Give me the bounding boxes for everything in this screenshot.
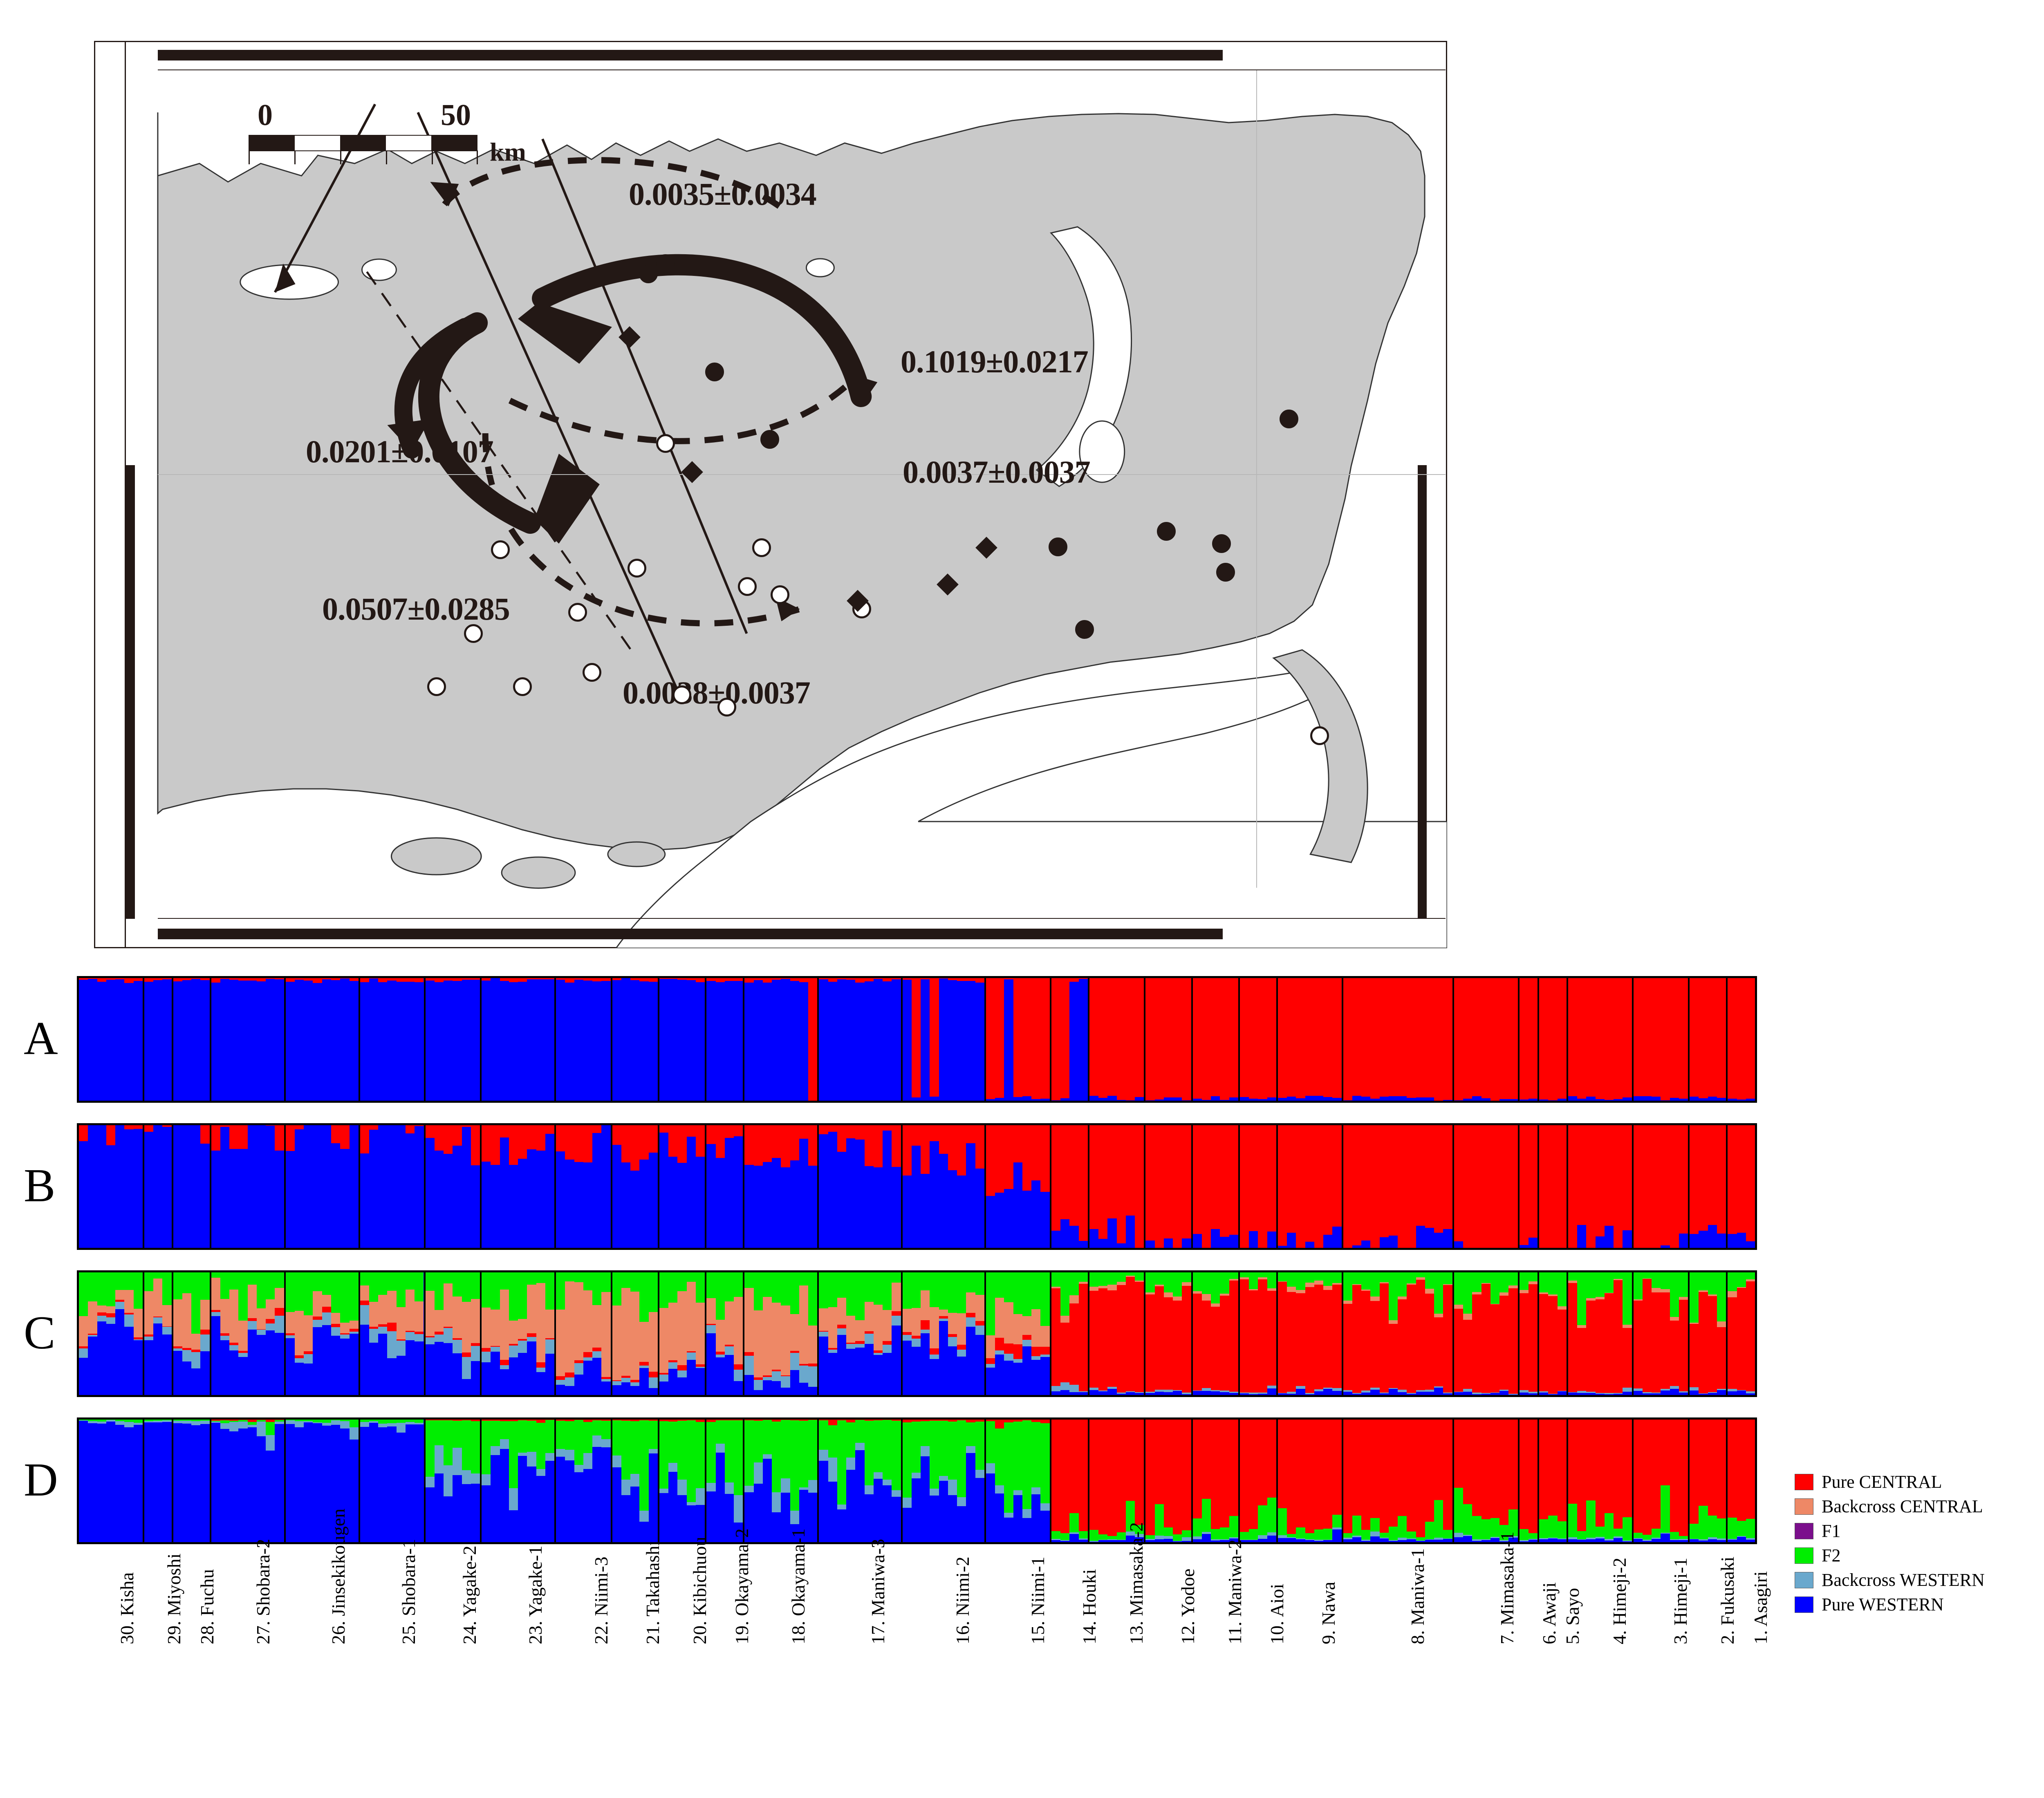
bar-segment-pure-western [500, 1369, 509, 1395]
bar-segment-pure-western [1380, 1097, 1389, 1101]
bar-segment-pure-central [1352, 1125, 1361, 1245]
individual-bar [819, 1420, 828, 1542]
bar-segment-backcross-central [1499, 1292, 1508, 1296]
bar-segment-pure-central [744, 1352, 753, 1355]
individual-bar [191, 1420, 200, 1542]
individual-bar [144, 978, 153, 1101]
bar-segment-pure-central [1126, 1420, 1135, 1501]
bar-segment-pure-central [734, 1125, 743, 1136]
bar-segment-pure-western [1370, 1536, 1379, 1542]
bar-segment-pure-central [97, 1312, 106, 1316]
individual-bar [1370, 1420, 1379, 1542]
bar-segment-pure-central [986, 1125, 995, 1196]
bar-segment-pure-western [1398, 1096, 1407, 1101]
bar-segment-pure-central [275, 1125, 284, 1151]
bar-segment-f2 [229, 1272, 238, 1290]
bar-segment-pure-central [1182, 978, 1191, 1100]
bar-segment-backcross-western [471, 1473, 480, 1484]
bar-segment-pure-central [1717, 1327, 1726, 1389]
bar-segment-pure-western [191, 1425, 200, 1542]
population-group [173, 1272, 211, 1395]
individual-bar [191, 1272, 200, 1395]
site-marker-central [1280, 410, 1298, 428]
bar-segment-backcross-western [266, 1435, 275, 1451]
bar-segment-pure-central [1717, 1420, 1726, 1518]
bar-segment-pure-western [574, 1162, 583, 1248]
population-group [482, 1125, 556, 1248]
individual-bar [574, 1420, 583, 1542]
population-label: 1. Asagiri [1750, 1571, 1771, 1644]
individual-bar [304, 1272, 313, 1395]
bar-segment-pure-central [912, 978, 921, 1097]
bar-segment-pure-western [668, 979, 677, 1101]
bar-segment-pure-western [1004, 979, 1013, 1101]
individual-bar [1004, 1272, 1013, 1395]
bar-segment-f2 [930, 1421, 939, 1489]
bar-segment-pure-central [435, 1125, 444, 1151]
population-label: 9. Nawa [1318, 1582, 1339, 1644]
individual-bar [790, 1420, 799, 1542]
bar-segment-pure-western [1040, 1099, 1049, 1101]
bar-segment-pure-central [1089, 978, 1098, 1096]
population-group [1454, 1272, 1520, 1395]
bar-segment-pure-western [1164, 1097, 1173, 1101]
individual-bar [1278, 1272, 1287, 1395]
bar-segment-pure-central [1398, 978, 1407, 1096]
bar-segment-f2 [948, 1272, 957, 1313]
individual-bar [883, 1420, 892, 1542]
bar-segment-pure-western [1596, 1394, 1605, 1395]
bar-segment-f2 [1708, 1272, 1717, 1294]
bar-segment-backcross-western [1013, 1359, 1022, 1363]
bar-segment-f2 [1343, 1272, 1352, 1301]
population-group [706, 978, 744, 1101]
individual-bar [630, 1125, 639, 1248]
bar-segment-backcross-central [734, 1297, 743, 1364]
individual-bar [500, 1125, 509, 1248]
bar-segment-f2 [360, 1272, 369, 1285]
bar-segment-pure-western [211, 1316, 220, 1395]
bar-segment-backcross-central [331, 1313, 340, 1324]
bar-segment-pure-central [930, 978, 939, 1097]
population-group [1240, 1125, 1278, 1248]
individual-bar [162, 978, 171, 1101]
bar-segment-pure-western [808, 1387, 817, 1395]
bar-segment-f2 [518, 1420, 527, 1453]
population-group [1634, 1420, 1690, 1542]
individual-bar [491, 1272, 500, 1395]
bar-segment-f2 [1370, 1272, 1379, 1296]
individual-bar [1717, 1125, 1726, 1248]
bar-segment-backcross-western [1296, 1386, 1305, 1389]
bar-segment-backcross-western [601, 1439, 610, 1447]
individual-bar [846, 1125, 855, 1248]
bar-segment-backcross-western [115, 1302, 124, 1309]
bar-segment-backcross-western [1004, 1354, 1013, 1361]
bar-segment-f2 [565, 1272, 574, 1281]
bar-segment-backcross-western [930, 1355, 939, 1359]
individual-bar [229, 1420, 238, 1542]
individual-bar [313, 1420, 322, 1542]
bar-segment-pure-western [406, 1340, 415, 1395]
individual-bar [144, 1272, 153, 1395]
individual-bar [865, 1420, 874, 1542]
bar-segment-pure-western [892, 1497, 901, 1542]
bar-segment-pure-western [545, 1354, 554, 1395]
individual-bar [257, 978, 266, 1101]
bar-segment-backcross-western [855, 1344, 864, 1347]
bar-segment-pure-western [350, 1334, 359, 1395]
legend-label: Backcross CENTRAL [1822, 1496, 1983, 1517]
bar-segment-pure-western [378, 1427, 387, 1542]
bar-segment-pure-western [828, 1353, 837, 1395]
site-marker-western [752, 538, 771, 557]
bar-segment-f2 [846, 1272, 855, 1315]
bar-segment-pure-western [1145, 1393, 1154, 1395]
bar-segment-pure-western [527, 979, 536, 1101]
bar-segment-pure-central [706, 1125, 715, 1144]
bar-segment-backcross-central [1060, 1316, 1069, 1323]
individual-bar [592, 978, 601, 1101]
individual-bar [1287, 1272, 1296, 1395]
individual-bar [1079, 1272, 1088, 1395]
bar-segment-pure-central [808, 978, 817, 1101]
bar-segment-pure-western [1249, 1394, 1258, 1395]
bar-segment-f2 [1287, 1272, 1296, 1287]
individual-bar [903, 1420, 912, 1542]
bar-segment-pure-western [687, 1360, 696, 1395]
individual-bar [734, 1125, 743, 1248]
bar-segment-pure-western [426, 981, 435, 1101]
population-group [556, 1272, 612, 1395]
bar-segment-backcross-central [995, 1298, 1004, 1338]
bar-segment-pure-western [855, 1348, 864, 1395]
individual-bar [134, 978, 143, 1101]
individual-bar [1737, 978, 1746, 1101]
individual-bar [1529, 1420, 1537, 1542]
bar-segment-pure-western [1126, 1392, 1135, 1395]
bar-segment-pure-western [846, 1138, 855, 1248]
bar-segment-pure-central [975, 978, 984, 982]
bar-segment-f2 [1079, 1531, 1088, 1539]
individual-bar [1434, 1420, 1443, 1542]
population-group [144, 1125, 173, 1248]
individual-bar [295, 1272, 304, 1395]
bar-segment-pure-western [182, 1125, 191, 1248]
bar-segment-pure-western [921, 1456, 930, 1542]
individual-bar [1004, 1420, 1013, 1542]
bar-segment-f2 [1089, 1530, 1098, 1541]
bar-segment-f2 [248, 1272, 257, 1285]
bar-segment-pure-central [734, 1364, 743, 1370]
bar-segment-backcross-western [369, 1329, 378, 1343]
bar-segment-pure-central [649, 1125, 658, 1153]
bar-segment-f2 [406, 1272, 415, 1290]
bar-segment-pure-western [1577, 1225, 1586, 1248]
bar-segment-backcross-central [1343, 1301, 1352, 1303]
bar-segment-pure-western [97, 1424, 106, 1542]
bar-segment-f2 [1425, 1272, 1434, 1289]
individual-bar [115, 978, 124, 1101]
population-label: 20. Kibichuou [689, 1537, 710, 1644]
bar-segment-backcross-western [435, 1445, 444, 1473]
population-group [1690, 978, 1728, 1101]
scale-label-zero: 0 [258, 98, 273, 133]
individual-bar [1623, 1420, 1632, 1542]
bar-segment-backcross-central [1370, 1296, 1379, 1301]
bar-segment-pure-central [986, 1358, 995, 1364]
bar-segment-pure-western [1443, 1539, 1452, 1542]
population-label: 16. Niimi-2 [952, 1556, 973, 1644]
bar-segment-pure-central [828, 978, 837, 982]
bar-segment-pure-western [1193, 1099, 1202, 1101]
individual-bar [1164, 1420, 1173, 1542]
bar-segment-pure-western [191, 1125, 200, 1248]
individual-bar [601, 1272, 610, 1395]
bar-segment-f2 [295, 1272, 304, 1311]
bar-segment-backcross-western [79, 1348, 88, 1357]
individual-bar [659, 1125, 668, 1248]
bar-segment-pure-central [1643, 978, 1652, 1096]
bar-segment-pure-western [1267, 1232, 1276, 1248]
population-group [1240, 1272, 1278, 1395]
bar-segment-pure-central [1323, 1290, 1332, 1388]
individual-bar [1361, 1272, 1370, 1395]
individual-bar [369, 1272, 378, 1395]
individual-bar [1220, 1272, 1229, 1395]
bar-segment-pure-central [1643, 1420, 1652, 1535]
bar-segment-pure-western [462, 1127, 471, 1248]
bar-segment-pure-central [1568, 1283, 1577, 1392]
bar-segment-backcross-western [1060, 1382, 1069, 1390]
bar-segment-pure-central [1443, 978, 1452, 1100]
bar-segment-pure-central [583, 1352, 592, 1357]
population-label: 7. Mimasaka-1 [1496, 1532, 1518, 1644]
bar-segment-backcross-central [939, 1310, 948, 1316]
bar-segment-backcross-western [574, 1465, 583, 1472]
individual-bar [883, 978, 892, 1101]
individual-bar [1182, 1420, 1191, 1542]
individual-bar [939, 1125, 948, 1248]
bar-segment-backcross-western [115, 1421, 124, 1425]
bar-segment-f2 [1107, 1272, 1116, 1285]
individual-bar [1454, 1125, 1463, 1248]
individual-bar [725, 978, 734, 1101]
bar-segment-f2 [772, 1272, 781, 1303]
bar-segment-pure-central [1558, 978, 1567, 1099]
bar-segment-pure-western [1558, 1391, 1567, 1395]
bar-segment-pure-western [912, 1097, 921, 1101]
bar-segment-f2 [687, 1420, 696, 1502]
bar-segment-pure-western [883, 1485, 892, 1542]
individual-bar [211, 1125, 220, 1248]
bar-segment-pure-western [304, 1422, 313, 1542]
individual-bar [781, 1125, 790, 1248]
population-group [211, 1125, 286, 1248]
bar-segment-backcross-western [397, 1423, 406, 1433]
bar-segment-pure-western [1258, 1394, 1267, 1395]
bar-segment-f2 [975, 1272, 984, 1294]
individual-bar [1278, 1420, 1287, 1542]
bar-segment-pure-central [837, 1325, 846, 1328]
population-label: 5. Sayo [1562, 1588, 1583, 1644]
individual-bar [1352, 1125, 1361, 1248]
bar-segment-f2 [1548, 1272, 1557, 1294]
bar-segment-pure-western [257, 981, 266, 1101]
bar-segment-backcross-central [1558, 1306, 1567, 1310]
individual-bar [574, 1125, 583, 1248]
bar-segment-pure-central [1155, 1125, 1164, 1248]
bar-segment-pure-western [808, 1166, 817, 1248]
bar-segment-f2 [1539, 1519, 1548, 1538]
bar-segment-f2 [754, 1421, 763, 1462]
bar-segment-pure-western [630, 1487, 639, 1542]
bar-segment-backcross-central [1117, 1282, 1126, 1285]
bar-segment-f2 [687, 1272, 696, 1282]
bar-segment-pure-western [1623, 1392, 1632, 1395]
bar-segment-pure-western [995, 1193, 1004, 1248]
bar-segment-pure-western [1323, 1540, 1332, 1542]
bar-segment-pure-western [939, 1321, 948, 1395]
bar-segment-f2 [763, 1420, 772, 1454]
bar-segment-backcross-central [659, 1308, 668, 1373]
bar-segment-backcross-western [444, 1328, 453, 1343]
bar-segment-pure-central [592, 1348, 601, 1351]
bar-segment-pure-western [975, 1478, 984, 1542]
bar-segment-pure-western [248, 1330, 257, 1395]
bar-segment-backcross-western [1031, 1487, 1040, 1494]
bar-segment-pure-central [1031, 978, 1040, 1099]
bar-segment-f2 [808, 1420, 817, 1480]
bar-segment-pure-western [220, 979, 229, 1101]
individual-bar [1508, 1125, 1517, 1248]
individual-bar [200, 1272, 209, 1395]
individual-bar [1539, 978, 1548, 1101]
individual-bar [930, 1125, 939, 1248]
individual-bar [1211, 1125, 1220, 1248]
bar-segment-pure-central [1314, 1285, 1323, 1389]
bar-segment-pure-central [1069, 978, 1078, 982]
scale-unit-label: km [490, 137, 526, 167]
individual-bar [1343, 1420, 1352, 1542]
bar-segment-pure-central [921, 1125, 930, 1174]
bar-segment-backcross-western [668, 1362, 677, 1369]
bar-segment-pure-central [1407, 1125, 1416, 1248]
individual-bar [1728, 978, 1737, 1101]
bar-segment-pure-central [1558, 1125, 1567, 1248]
individual-bar [173, 1272, 182, 1395]
bar-segment-f2 [565, 1421, 574, 1450]
bar-segment-f2 [1643, 1535, 1652, 1540]
bar-segment-backcross-western [659, 1375, 668, 1381]
bar-segment-pure-central [1652, 1292, 1661, 1393]
bar-segment-pure-western [1145, 1100, 1154, 1101]
bar-segment-pure-central [1670, 1420, 1679, 1532]
population-group [612, 978, 659, 1101]
individual-bar [1287, 978, 1296, 1101]
individual-bar [1407, 1125, 1416, 1248]
bar-segment-f2 [1548, 1516, 1557, 1538]
bar-segment-backcross-central [975, 1295, 984, 1321]
bar-segment-f2 [1690, 1524, 1699, 1539]
individual-bar [1258, 978, 1267, 1101]
bar-segment-pure-western [482, 1485, 491, 1542]
bar-segment-pure-western [153, 980, 162, 1101]
bar-segment-pure-western [1679, 1234, 1688, 1248]
bar-segment-pure-central [415, 978, 424, 982]
population-group [1634, 1125, 1690, 1248]
bar-segment-pure-central [1425, 978, 1434, 1097]
individual-bar [1577, 978, 1586, 1101]
individual-bar [754, 978, 763, 1101]
bar-segment-backcross-western [406, 1332, 415, 1340]
bar-segment-pure-western [286, 982, 295, 1101]
bar-segment-f2 [1577, 1272, 1586, 1325]
bar-segment-pure-central [966, 978, 975, 981]
bar-segment-pure-western [1031, 1099, 1040, 1101]
bar-segment-pure-central [1343, 1125, 1352, 1248]
bar-segment-pure-western [1529, 1238, 1537, 1248]
individual-bar [518, 1125, 527, 1248]
bar-segment-pure-western [781, 1388, 790, 1395]
bar-segment-backcross-western [182, 1350, 191, 1361]
bar-segment-pure-central [1004, 1343, 1013, 1354]
individual-bar [1539, 1125, 1548, 1248]
bar-segment-pure-central [1296, 1125, 1305, 1248]
individual-bar [1155, 1125, 1164, 1248]
individual-bar [1499, 978, 1508, 1101]
individual-bar [462, 1125, 471, 1248]
individual-bar [1652, 1125, 1661, 1248]
bar-segment-pure-western [1089, 1229, 1098, 1248]
individual-bar [1499, 1420, 1508, 1542]
population-group [612, 1272, 659, 1395]
individual-bar [837, 978, 846, 1101]
bar-segment-pure-western [986, 1099, 995, 1101]
bar-segment-backcross-western [229, 1422, 238, 1431]
bar-segment-pure-central [1173, 1301, 1182, 1390]
bar-segment-backcross-central [574, 1282, 583, 1360]
individual-bar [266, 1272, 275, 1395]
bar-segment-pure-central [1398, 1125, 1407, 1248]
bar-segment-backcross-western [536, 1368, 545, 1373]
individual-bar [1173, 1125, 1182, 1248]
bar-segment-backcross-central [716, 1320, 725, 1352]
bar-segment-backcross-western [257, 1422, 266, 1436]
bar-segment-pure-central [1343, 1420, 1352, 1533]
bar-segment-pure-western [1472, 1541, 1481, 1542]
bar-segment-pure-western [1623, 1541, 1632, 1542]
bar-segment-pure-western [1051, 1100, 1060, 1101]
individual-bar [266, 1420, 275, 1542]
bar-segment-pure-central [1425, 1294, 1434, 1390]
bar-segment-pure-central [1499, 1296, 1508, 1390]
individual-bar [1089, 1125, 1098, 1248]
bar-segment-pure-central [1069, 1125, 1078, 1226]
individual-bar [200, 1420, 209, 1542]
bar-segment-pure-central [865, 1125, 874, 1166]
bar-segment-pure-central [725, 1125, 734, 1138]
individual-bar [1249, 978, 1258, 1101]
individual-bar [1040, 1420, 1049, 1542]
bar-segment-backcross-central [855, 1320, 864, 1341]
bar-segment-pure-western [1155, 1099, 1164, 1101]
bar-segment-pure-central [1332, 1285, 1341, 1388]
bar-segment-pure-central [986, 978, 995, 1099]
barplot-panel-b [77, 1123, 1757, 1250]
bar-segment-pure-central [1490, 1420, 1499, 1518]
bar-segment-backcross-central [397, 1307, 406, 1340]
